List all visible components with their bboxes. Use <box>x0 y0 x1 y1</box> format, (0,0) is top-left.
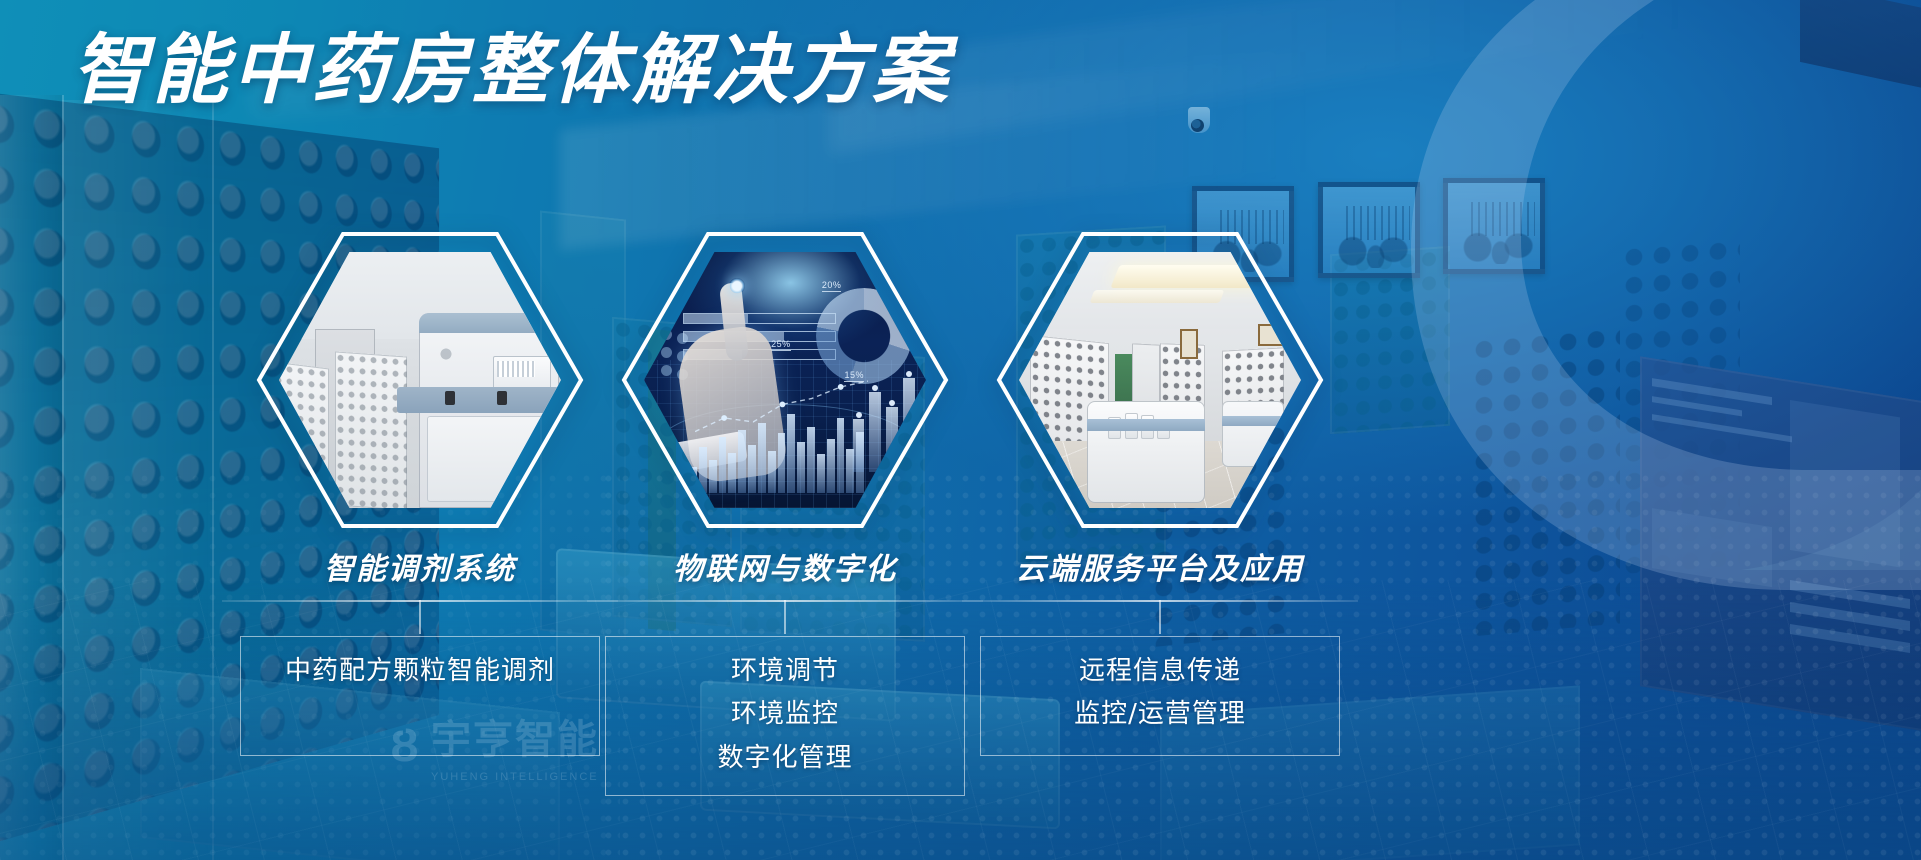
hex-card-2: 20% 25% 15% <box>620 230 950 530</box>
column-1-feature-box: 中药配方颗粒智能调剂 <box>240 636 600 756</box>
column-3-item-1: 监控/运营管理 <box>995 698 1325 731</box>
column-2-item-2: 数字化管理 <box>620 742 950 775</box>
column-2-item-0: 环境调节 <box>620 655 950 688</box>
column-3-item-0: 远程信息传递 <box>995 655 1325 688</box>
hex-card-1 <box>255 230 585 530</box>
column-2-feature-box: 环境调节 环境监控 数字化管理 <box>605 636 965 796</box>
poster-canvas: Ȣ 宇亨智能 YUHENG INTELLIGENCE 智能中药房整体解决方案 <box>0 0 1921 860</box>
column-2-divider <box>587 600 983 602</box>
column-3-divider <box>962 600 1358 602</box>
solution-columns: 智能调剂系统 中药配方颗粒智能调剂 <box>0 0 1921 860</box>
column-1-item-0: 中药配方颗粒智能调剂 <box>255 655 585 688</box>
hex-card-3 <box>995 230 1325 530</box>
column-3-heading: 云端服务平台及应用 <box>930 544 1390 588</box>
donut-label-mid: 25% <box>771 339 791 351</box>
column-cloud-platform: 云端服务平台及应用 远程信息传递 监控/运营管理 <box>930 230 1390 756</box>
donut-label-top: 20% <box>822 280 842 292</box>
column-2-item-1: 环境监控 <box>620 698 950 731</box>
column-3-feature-box: 远程信息传递 监控/运营管理 <box>980 636 1340 756</box>
